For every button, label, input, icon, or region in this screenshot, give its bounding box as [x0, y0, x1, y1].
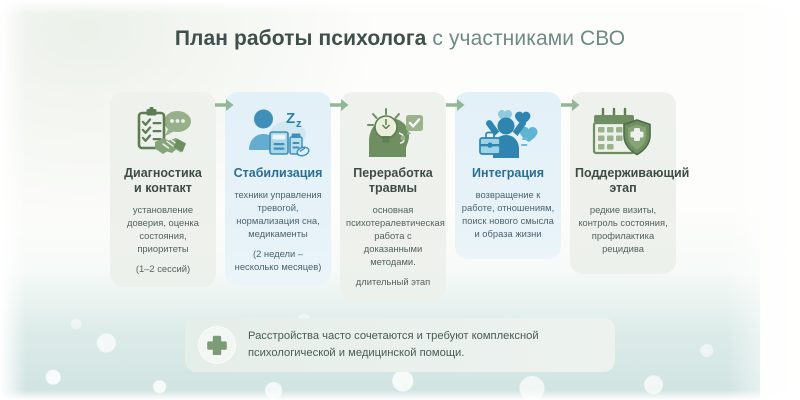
stage-card-diagnostics[interactable]: Диагностика и контакт установление довер… [110, 92, 216, 287]
card-title-line1: Стабилизация [234, 166, 323, 180]
calendar-shield-cross-icon [575, 102, 671, 164]
stage-card-maintenance[interactable]: Поддерживающий этап редкие визиты, контр… [570, 92, 676, 274]
card-title-line1: Интеграция [472, 166, 544, 180]
stage-card-row: Диагностика и контакт установление довер… [110, 92, 704, 292]
stage-card-integration[interactable]: Интеграция возвращение к работе, отношен… [455, 92, 561, 259]
arrow-right-icon [215, 98, 234, 112]
clipboard-checklist-handshake-icon [115, 102, 211, 164]
stage-card-trauma-processing[interactable]: Переработка травмы основная психотералев… [340, 92, 446, 300]
summary-banner-line1: Расстройства часто сочетаются и требуют … [248, 328, 539, 345]
summary-banner: Расстройства часто сочетаются и требуют … [185, 318, 615, 372]
person-arms-up-hearts-briefcase-icon [460, 102, 556, 164]
page-title-bold: План работы психолога [175, 27, 427, 50]
medical-cross-icon [199, 327, 235, 363]
stage-card-stabilization[interactable]: Z z Стабилизация [225, 92, 331, 285]
card-title: Интеграция [460, 166, 556, 181]
card-title-line1: Поддерживающий [575, 166, 689, 180]
page-title-rest: с участниками СВО [426, 27, 625, 50]
arrow-right-icon [330, 98, 349, 112]
arrow-right-icon [446, 98, 465, 112]
card-title: Диагностика и контакт [115, 166, 211, 196]
card-title-line2: этап [609, 181, 636, 195]
card-description: редкие визиты, контроль состояния, профи… [575, 203, 671, 255]
infographic-canvas: План работы психолога с участниками СВО [0, 0, 800, 400]
svg-text:z: z [296, 118, 302, 130]
card-title-line2: травмы [369, 181, 417, 195]
card-title: Поддерживающий этап [575, 166, 671, 196]
card-description: установление доверия, оценка состояния, … [115, 203, 211, 255]
card-description: возвращение к работе, отношениям, поиск … [460, 188, 556, 240]
card-title: Стабилизация [230, 166, 326, 181]
card-title-line2: и контакт [134, 181, 192, 195]
card-title: Переработка травмы [345, 166, 441, 196]
card-note: (2 недели – несколько месяцев) [230, 247, 326, 273]
svg-text:Z: Z [286, 110, 295, 127]
summary-banner-line2: психологической и медицинской помощи. [248, 345, 539, 362]
card-title-line1: Переработка [353, 166, 433, 180]
arrow-right-icon [561, 98, 580, 112]
head-lightbulb-check-icon [345, 102, 441, 164]
person-sleep-medication-icon: Z z [230, 102, 326, 164]
card-note: длительный этап [345, 275, 441, 288]
page-title: План работы психолога с участниками СВО [0, 26, 800, 52]
summary-banner-text: Расстройства часто сочетаются и требуют … [248, 328, 539, 362]
card-description: основная психотералевтическая работа с д… [345, 203, 441, 268]
card-note: (1–2 сессий) [115, 262, 211, 275]
card-title-line1: Диагностика [124, 166, 202, 180]
card-description: техники управления тревогой, нормализаци… [230, 188, 326, 240]
